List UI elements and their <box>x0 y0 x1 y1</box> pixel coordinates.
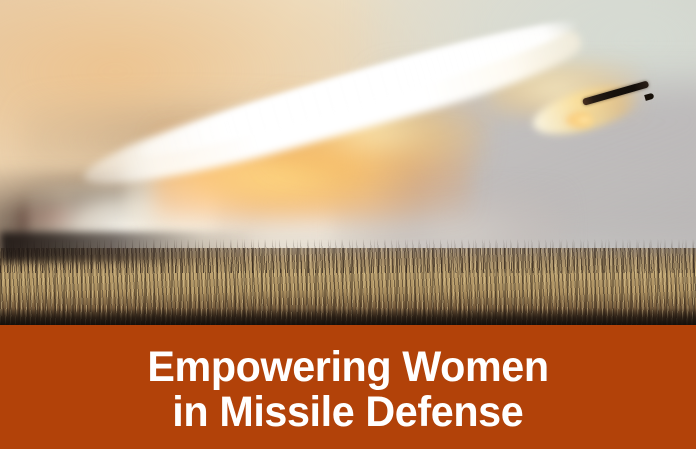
title-banner: Empowering Women in Missile Defense <box>0 325 696 449</box>
launch-photo <box>0 0 696 326</box>
field-shadow-left <box>0 232 251 262</box>
banner-title-line-1: Empowering Women <box>147 346 548 390</box>
field-foreground-shadow <box>0 308 696 326</box>
banner-title-line-2: in Missile Defense <box>172 391 523 435</box>
poster: Empowering Women in Missile Defense <box>0 0 696 449</box>
missile-engine-flame <box>565 112 593 128</box>
prairie-field <box>0 248 696 326</box>
